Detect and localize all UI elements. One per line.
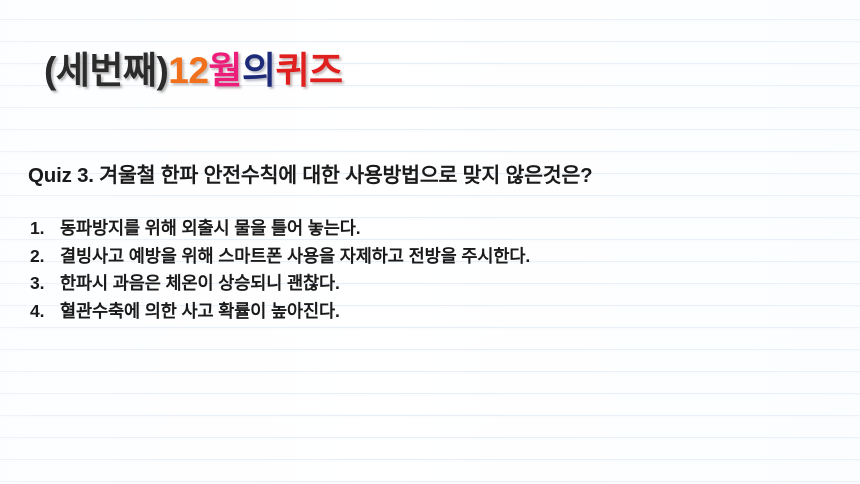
quiz-option-4[interactable]: 4. 혈관수축에 의한 사고 확률이 높아진다.	[30, 298, 830, 326]
title-possessive: 의	[242, 50, 276, 91]
quiz-question: Quiz 3. 겨울철 한파 안전수칙에 대한 사용방법으로 맞지 않은것은?	[28, 158, 592, 188]
title-month-number: 12	[168, 50, 208, 91]
title-prefix: (세번째)	[44, 50, 168, 91]
title-quiz-word: 퀴즈	[276, 50, 343, 91]
option-label: 동파방지를 위해 외출시 물을 틀어 놓는다.	[60, 215, 361, 243]
slide-title: (세번째)12월의퀴즈	[44, 52, 343, 89]
quiz-options-list: 1. 동파방지를 위해 외출시 물을 틀어 놓는다. 2. 결빙사고 예방을 위…	[30, 215, 830, 325]
option-label: 한파시 과음은 체온이 상승되니 괜찮다.	[60, 270, 340, 298]
quiz-option-2[interactable]: 2. 결빙사고 예방을 위해 스마트폰 사용을 자제하고 전방을 주시한다.	[30, 243, 830, 271]
title-month-word: 월	[208, 50, 242, 91]
option-label: 결빙사고 예방을 위해 스마트폰 사용을 자제하고 전방을 주시한다.	[60, 243, 530, 271]
quiz-option-1[interactable]: 1. 동파방지를 위해 외출시 물을 틀어 놓는다.	[30, 215, 830, 243]
option-number: 2.	[30, 243, 60, 271]
option-number: 1.	[30, 215, 60, 243]
option-number: 4.	[30, 298, 60, 326]
option-label: 혈관수축에 의한 사고 확률이 높아진다.	[60, 298, 340, 326]
option-number: 3.	[30, 270, 60, 298]
quiz-option-3[interactable]: 3. 한파시 과음은 체온이 상승되니 괜찮다.	[30, 270, 830, 298]
quiz-slide: (세번째)12월의퀴즈 Quiz 3. 겨울철 한파 안전수칙에 대한 사용방법…	[0, 0, 860, 484]
